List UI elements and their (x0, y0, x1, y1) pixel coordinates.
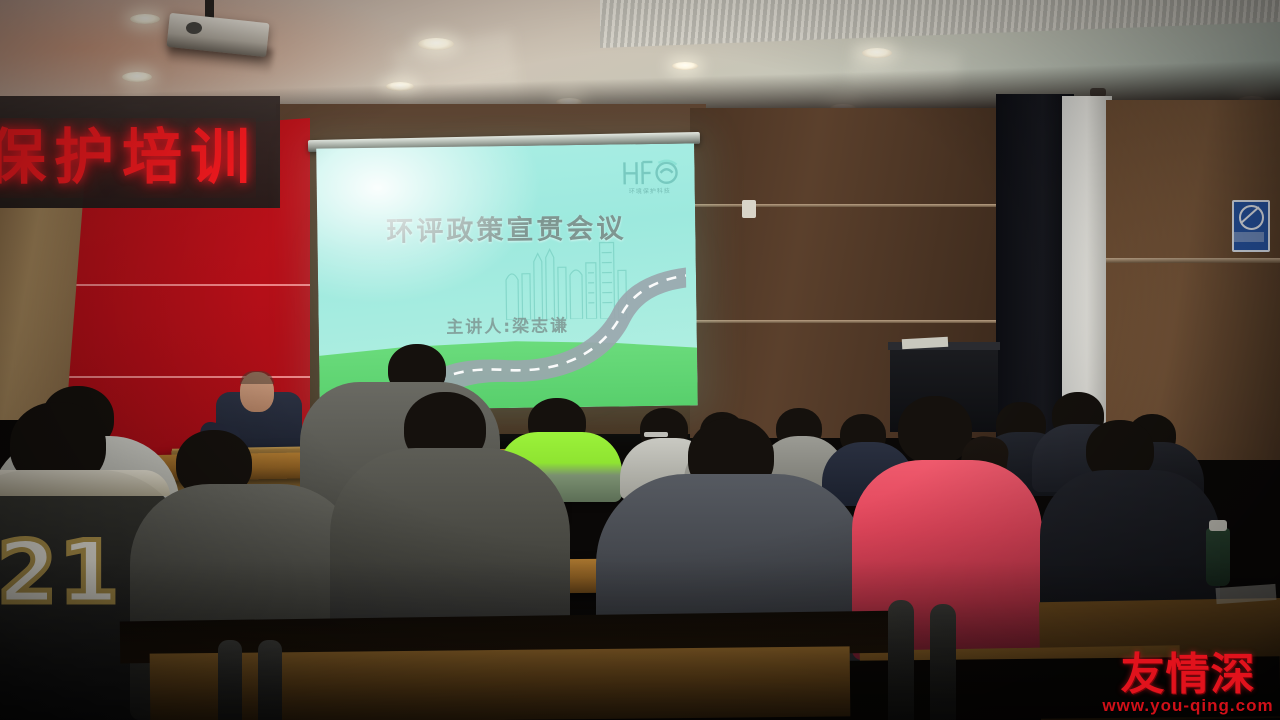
projector-hotspot (316, 143, 548, 309)
chair-post (888, 600, 914, 720)
projector-lens-icon (186, 22, 202, 34)
wall-mounted-device (742, 200, 756, 218)
downlight (672, 62, 698, 70)
jersey-collar (0, 470, 170, 496)
no-smoking-label (1234, 232, 1264, 242)
watermark-url: www.you-qing.com (1102, 696, 1274, 716)
person-head (898, 396, 972, 464)
wall-trim (690, 320, 1010, 323)
eyeglasses-icon (644, 432, 668, 437)
wall-white-column (1062, 96, 1112, 436)
chair-post (258, 640, 282, 720)
water-bottle-cap (1209, 520, 1227, 531)
wall-panel-far-right (1106, 100, 1280, 460)
projection-screen: 环评政策宣贯会议 主讲人:梁志谦 环境保护科技 (316, 143, 698, 410)
bench-row-front (150, 646, 851, 720)
watermark-brand: 友情深 (1102, 652, 1274, 698)
red-wall-seam (58, 284, 310, 286)
chair-post (218, 640, 242, 720)
watermark: 友情深 www.you-qing.com (1102, 652, 1274, 716)
water-bottle (1206, 528, 1230, 586)
photo-scene: 保护培训 环评政策宣贯会 (0, 0, 1280, 720)
chair-post (930, 604, 956, 720)
slide-logo-caption: 环境保护科技 (619, 186, 681, 196)
speaker-hair (240, 371, 274, 384)
slide-presenter: 主讲人:梁志谦 (319, 309, 697, 339)
no-smoking-icon (1239, 205, 1264, 230)
downlight (122, 72, 152, 82)
wall-trim-right (1106, 258, 1280, 263)
led-banner-text: 保护培训 (0, 118, 256, 198)
downlight (130, 14, 160, 24)
jersey-number: 21 (0, 528, 124, 618)
wall-trim (690, 204, 1010, 207)
